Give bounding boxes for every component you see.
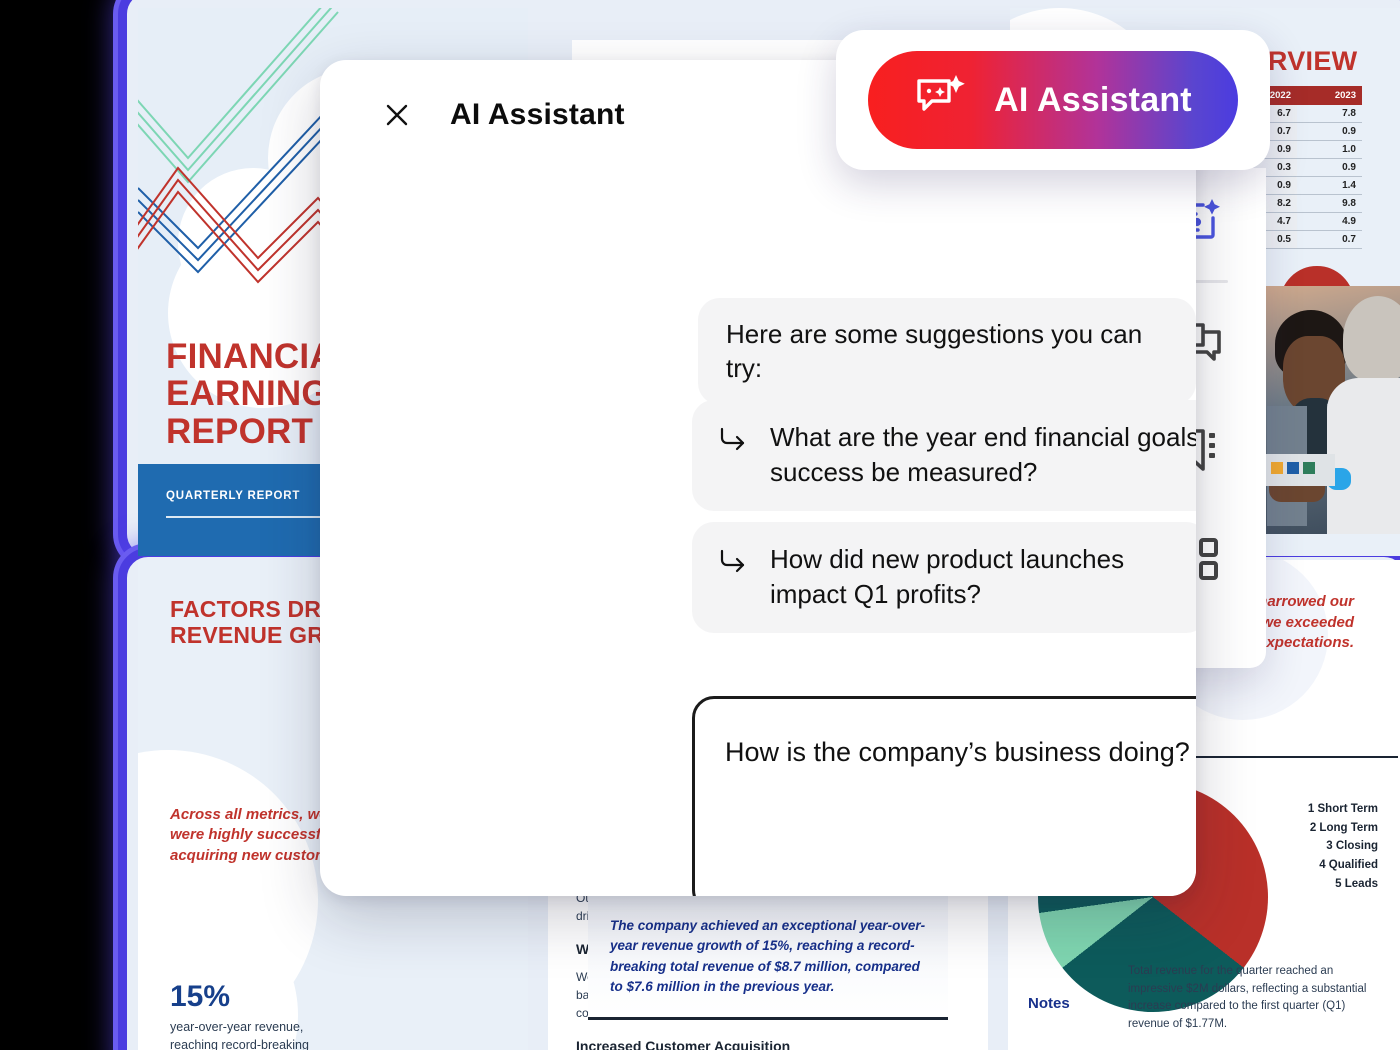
ai-assistant-fab-container: AI Assistant <box>836 30 1270 170</box>
team-photo <box>1265 286 1400 534</box>
close-icon <box>384 102 410 128</box>
highlight-quote: The company achieved an exceptional year… <box>588 893 948 1020</box>
table-cell: 1.0 <box>1297 141 1362 159</box>
stat-caption: year-over-year revenue, reaching record-… <box>170 1018 330 1050</box>
table-cell: 9.8 <box>1297 195 1362 213</box>
arrow-turn-down-right-icon <box>718 548 748 579</box>
pie-chart-legend: 1 Short Term2 Long Term3 Closing4 Qualif… <box>1308 800 1378 893</box>
stat-value: 15% <box>170 980 230 1014</box>
legend-item: 3 Closing <box>1308 837 1378 856</box>
notes-label: Notes <box>1028 995 1070 1012</box>
close-button[interactable] <box>382 100 412 130</box>
table-cell: 0.9 <box>1297 123 1362 141</box>
cover-band-label: QUARTERLY REPORT <box>166 490 300 502</box>
table-cell: 7.8 <box>1297 105 1362 123</box>
ai-assistant-fab-label: AI Assistant <box>994 81 1192 120</box>
suggestion-chip-1[interactable]: How did new product launches impact Q1 p… <box>692 522 1196 633</box>
ai-chat-sparkle-icon <box>914 73 970 128</box>
table-column-header: 2023 <box>1297 86 1362 105</box>
legend-item: 5 Leads <box>1308 875 1378 894</box>
arrow-turn-down-right-icon <box>718 426 748 457</box>
suggestion-text: How did new product launches impact Q1 p… <box>770 542 1180 611</box>
ai-assistant-panel: AI Assistant Here are some suggestions y… <box>320 60 1196 896</box>
message-composer[interactable]: How is the company’s business doing? <box>692 696 1196 896</box>
ai-panel-title: AI Assistant <box>450 98 625 132</box>
notes-body: Total revenue for the quarter reached an… <box>1128 963 1390 1034</box>
suggestion-text: What are the year end financial goals an… <box>770 420 1196 489</box>
screenshot-root: FINANCIAL EARNINGS REPORT QUARTERLY REPO… <box>0 0 1400 1050</box>
legend-item: 2 Long Term <box>1308 819 1378 838</box>
table-cell: 1.4 <box>1297 177 1362 195</box>
message-input-value[interactable]: How is the company’s business doing? <box>725 735 1196 770</box>
table-cell: 4.9 <box>1297 213 1362 231</box>
legend-item: 1 Short Term <box>1308 800 1378 819</box>
assistant-message: Here are some suggestions you can try: <box>698 298 1196 405</box>
ai-assistant-fab[interactable]: AI Assistant <box>868 51 1238 149</box>
table-cell: 0.7 <box>1297 231 1362 249</box>
legend-item: 4 Qualified <box>1308 856 1378 875</box>
table-cell: 0.9 <box>1297 159 1362 177</box>
suggestion-chip-0[interactable]: What are the year end financial goals an… <box>692 400 1196 511</box>
body-heading: Increased Customer Acquisition <box>576 1036 926 1050</box>
